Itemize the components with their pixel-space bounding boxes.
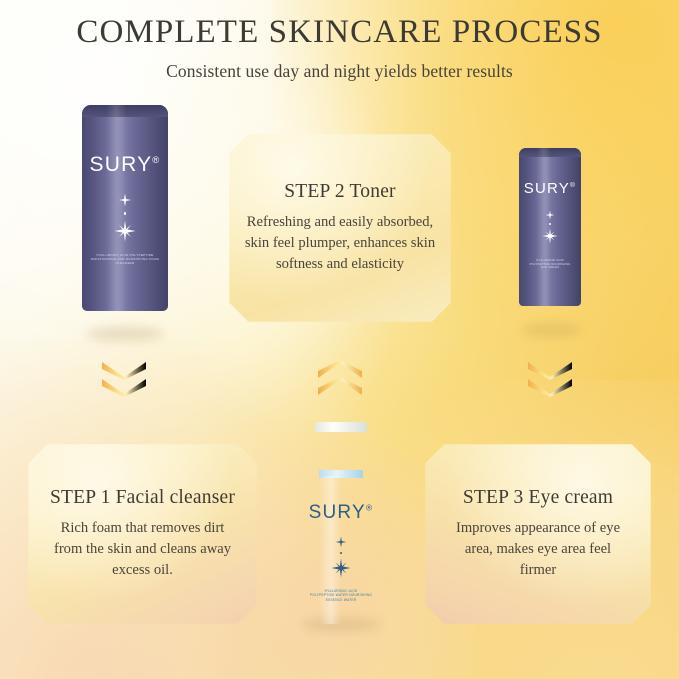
brand-logo: SURY® [82, 153, 168, 177]
dot-icon [124, 212, 127, 215]
product-fineprint: HYALURONIC ACID POLYPEPTIDE NOURISHING E… [519, 259, 581, 270]
page-subtitle: Consistent use day and night yields bett… [0, 61, 679, 82]
step-3-title: STEP 3 Eye cream [440, 487, 636, 509]
brand-logo: SURY® [299, 502, 383, 524]
chevron-up-icon [313, 377, 367, 397]
decorative-motif [519, 210, 581, 244]
decorative-motif [299, 536, 383, 578]
trademark-symbol: ® [152, 155, 160, 166]
eye-cream-tube[interactable]: SURY® HYALURONIC ACID POLYPEPTIDE NOURIS… [515, 148, 587, 336]
step-2-body: Refreshing and easily absorbed, skin fee… [244, 212, 436, 275]
starburst-icon [114, 220, 136, 242]
product-fineprint: HYALURONIC ACID POLYPEPTIDE WATER NOURIS… [299, 589, 383, 602]
brand-name: SURY [524, 180, 570, 197]
brand-name: SURY [309, 502, 366, 523]
chevron-down-icon [523, 377, 577, 397]
arrow-right-down [523, 360, 577, 408]
bottle-body: SURY® HYALURONIC ACID POLYPEPTIDE WATER … [299, 476, 383, 624]
step-1-title: STEP 1 Facial cleanser [43, 487, 242, 509]
brand-name: SURY [90, 153, 153, 176]
step-1-body: Rich foam that removes dirt from the ski… [52, 518, 234, 581]
tube-body: SURY® HYALURONIC ACID POLYPEPTIDE MOISTU… [82, 105, 168, 311]
trademark-symbol: ® [366, 503, 374, 513]
arrow-center-up [313, 360, 367, 408]
infographic-canvas: COMPLETE SKINCARE PROCESS Consistent use… [0, 0, 679, 679]
dot-icon [340, 552, 342, 554]
arrow-left-down [97, 360, 151, 408]
trademark-symbol: ® [570, 182, 576, 189]
step-3-panel[interactable]: STEP 3 Eye cream Improves appearance of … [424, 443, 652, 625]
tube-body: SURY® HYALURONIC ACID POLYPEPTIDE NOURIS… [519, 148, 581, 306]
cap-gold-surface [92, 307, 158, 335]
bottle-cap [313, 430, 369, 472]
step-3-body: Improves appearance of eye area, makes e… [452, 518, 624, 581]
page-title: COMPLETE SKINCARE PROCESS [0, 14, 679, 50]
tube-cap [92, 307, 158, 335]
brand-logo: SURY® [519, 180, 581, 197]
tube-cap [527, 302, 573, 328]
step-2-panel[interactable]: STEP 2 Toner Refreshing and easily absor… [228, 133, 452, 323]
step-1-panel[interactable]: STEP 1 Facial cleanser Rich foam that re… [27, 443, 258, 625]
toner-bottle[interactable]: SURY® HYALURONIC ACID POLYPEPTIDE WATER … [293, 422, 389, 632]
chevron-down-icon [97, 377, 151, 397]
sparkle-icon [545, 210, 555, 220]
product-fineprint: HYALURONIC ACID POLYPEPTIDE MOISTURIZING… [82, 253, 168, 266]
sparkle-icon [335, 536, 347, 548]
header: COMPLETE SKINCARE PROCESS Consistent use… [0, 14, 679, 82]
starburst-icon [542, 228, 558, 244]
starburst-icon [331, 558, 351, 578]
dot-icon [549, 223, 551, 225]
cap-gold-surface [527, 302, 573, 328]
step-2-title: STEP 2 Toner [244, 181, 436, 203]
sparkle-icon [118, 193, 132, 207]
cleanser-tube[interactable]: SURY® HYALURONIC ACID POLYPEPTIDE MOISTU… [78, 105, 172, 340]
decorative-motif [82, 193, 168, 242]
